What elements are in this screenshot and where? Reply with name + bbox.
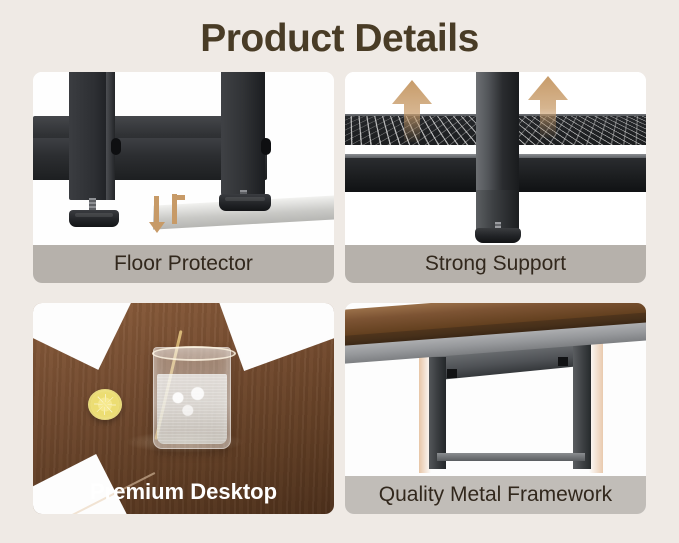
panel-strong-support[interactable]: Strong Support <box>345 72 646 283</box>
metal-leg-left-highlight-icon <box>106 72 115 200</box>
panel-caption-premium-desktop: Premium Desktop <box>33 470 334 514</box>
water-glass-icon <box>153 347 231 449</box>
down-arrow-icon <box>154 196 159 224</box>
glass-rim-icon <box>152 346 236 361</box>
bolt-knob-right-icon <box>261 138 271 155</box>
desktop-corner-left-icon <box>33 303 133 370</box>
metal-bracket-right-icon <box>558 357 568 366</box>
desktop-corner-right-icon <box>215 303 334 371</box>
lemon-slice-icon <box>88 389 122 420</box>
adjustable-foot-right-icon <box>219 194 271 211</box>
panel-caption-strong-support: Strong Support <box>345 245 646 283</box>
up-arrow-right-icon <box>527 76 569 138</box>
panel-premium-desktop[interactable]: Premium Desktop <box>33 303 334 514</box>
metal-leg-right-icon <box>573 331 591 469</box>
adjustable-foot-icon <box>475 228 521 243</box>
metal-leg-right-icon <box>221 72 265 195</box>
adjustable-foot-left-icon <box>69 210 119 227</box>
up-arrow-left-icon <box>391 80 433 142</box>
warm-glow-right-icon <box>589 329 603 473</box>
product-details-grid: Floor Protector <box>33 72 646 514</box>
down-arrow-secondary-icon <box>172 194 177 224</box>
panel-quality-metal-framework[interactable]: Quality Metal Framework <box>345 303 646 514</box>
glass-water-icon <box>157 374 227 444</box>
metal-stretcher-icon <box>437 453 585 461</box>
page-title: Product Details <box>0 16 679 62</box>
panel-caption-quality-metal-framework: Quality Metal Framework <box>345 476 646 514</box>
panel-caption-floor-protector: Floor Protector <box>33 245 334 283</box>
metal-bracket-left-icon <box>447 369 457 378</box>
panel-floor-protector[interactable]: Floor Protector <box>33 72 334 283</box>
bolt-knob-left-icon <box>111 138 121 155</box>
